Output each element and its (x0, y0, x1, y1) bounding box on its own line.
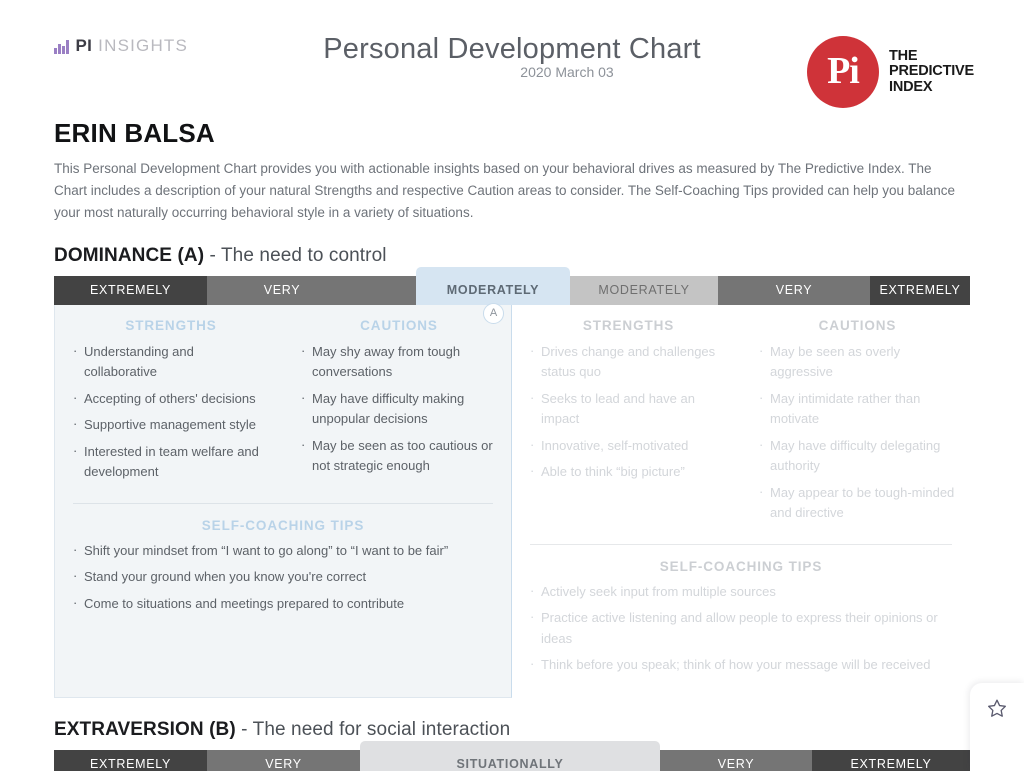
column-title-cautions: CAUTIONS (301, 318, 497, 333)
scale-marker-a: A (483, 303, 504, 324)
scale-segment-very-left[interactable]: VERY (207, 750, 360, 771)
list-item: Innovative, self-motivated (530, 436, 727, 457)
column-cautions-left: CAUTIONS May shy away from tough convers… (283, 318, 511, 489)
list-strengths-left: Understanding and collaborative Acceptin… (73, 342, 269, 483)
panel-right-columns: STRENGTHS Drives change and challenges s… (512, 318, 970, 530)
panel-right-dominance: STRENGTHS Drives change and challenges s… (512, 305, 970, 698)
list-item: Seeks to lead and have an impact (530, 389, 727, 430)
list-item: Come to situations and meetings prepared… (73, 594, 493, 615)
pi-logo-line2: PREDICTIVE (889, 64, 974, 80)
tips-title: SELF-COACHING TIPS (73, 518, 493, 533)
pi-logo-line3: INDEX (889, 80, 974, 96)
list-item: Actively seek input from multiple source… (530, 582, 952, 603)
section-factor-label: DOMINANCE (A) (54, 245, 204, 266)
list-cautions-left: May shy away from tough conversations Ma… (301, 342, 497, 477)
list-item: May be seen as overly aggressive (759, 342, 956, 383)
section-description-label: - The need for social interaction (241, 719, 510, 740)
scale-segment-extremely-left[interactable]: EXTREMELY (54, 750, 207, 771)
divider (530, 544, 952, 545)
scale-segment-situationally-active[interactable]: SITUATIONALLY (360, 750, 660, 771)
pi-logo-wordmark: THE PREDICTIVE INDEX (889, 49, 974, 96)
list-strengths-right: Drives change and challenges status quo … (530, 342, 727, 483)
column-strengths-left: STRENGTHS Understanding and collaborativ… (55, 318, 283, 489)
section-extraversion: EXTRAVERSION (B) - The need for social i… (54, 719, 970, 771)
scale-segment-extremely-right[interactable]: EXTREMELY (870, 276, 970, 305)
tips-title: SELF-COACHING TIPS (530, 559, 952, 574)
scale-segment-moderately-right[interactable]: MODERATELY (570, 276, 718, 305)
panel-left-dominance: STRENGTHS Understanding and collaborativ… (54, 305, 512, 698)
intro-block: ERIN BALSA This Personal Development Cha… (54, 118, 970, 224)
section-dominance: DOMINANCE (A) - The need to control EXTR… (54, 245, 970, 698)
scale-segment-spacer-left[interactable] (357, 276, 416, 305)
tips-left-dominance: SELF-COACHING TIPS Shift your mindset fr… (55, 503, 511, 615)
list-tips-left: Shift your mindset from “I want to go al… (73, 541, 493, 615)
list-item: Supportive management style (73, 415, 269, 436)
list-item: Able to think “big picture” (530, 462, 727, 483)
scale-dominance: EXTREMELY VERY MODERATELY MODERATELY VER… (54, 276, 970, 305)
scale-segment-moderately-left-active[interactable]: MODERATELY (416, 276, 570, 305)
list-item: May appear to be tough-minded and direct… (759, 483, 956, 524)
list-item: May shy away from tough conversations (301, 342, 497, 383)
section-description-label: - The need to control (210, 245, 387, 266)
favorite-button[interactable] (970, 683, 1024, 771)
scale-segment-extremely-right[interactable]: EXTREMELY (812, 750, 970, 771)
document-page: PI INSIGHTS Personal Development Chart 2… (0, 0, 1024, 771)
tips-right-dominance: SELF-COACHING TIPS Actively seek input f… (512, 544, 970, 676)
section-heading-dominance: DOMINANCE (A) - The need to control (54, 245, 970, 267)
list-cautions-right: May be seen as overly aggressive May int… (759, 342, 956, 524)
divider (73, 503, 493, 504)
scale-segment-very-left[interactable]: VERY (207, 276, 357, 305)
pi-glyph: Pi (807, 49, 879, 93)
pi-circle-mark: Pi (807, 36, 879, 108)
section-factor-label: EXTRAVERSION (B) (54, 719, 236, 740)
scale-extraversion: EXTREMELY VERY SITUATIONALLY VERY EXTREM… (54, 750, 970, 771)
column-title-cautions: CAUTIONS (759, 318, 956, 333)
column-title-strengths: STRENGTHS (73, 318, 269, 333)
list-tips-right: Actively seek input from multiple source… (530, 582, 952, 676)
list-item: May have difficulty making unpopular dec… (301, 389, 497, 430)
list-item: Accepting of others' decisions (73, 389, 269, 410)
list-item: Drives change and challenges status quo (530, 342, 727, 383)
list-item: Practice active listening and allow peop… (530, 608, 952, 649)
column-strengths-right: STRENGTHS Drives change and challenges s… (512, 318, 741, 530)
list-item: Interested in team welfare and developme… (73, 442, 269, 483)
column-title-strengths: STRENGTHS (530, 318, 727, 333)
page-header: PI INSIGHTS Personal Development Chart 2… (0, 0, 1024, 118)
scale-segment-very-right[interactable]: VERY (660, 750, 812, 771)
scale-segment-extremely-left[interactable]: EXTREMELY (54, 276, 207, 305)
list-item: Stand your ground when you know you're c… (73, 567, 493, 588)
scale-track: EXTREMELY VERY SITUATIONALLY VERY EXTREM… (54, 750, 970, 771)
list-item: Think before you speak; think of how you… (530, 655, 952, 676)
list-item: May intimidate rather than motivate (759, 389, 956, 430)
person-name: ERIN BALSA (54, 118, 970, 149)
column-cautions-right: CAUTIONS May be seen as overly aggressiv… (741, 318, 970, 530)
predictive-index-logo: Pi THE PREDICTIVE INDEX (807, 36, 974, 108)
star-icon (987, 698, 1007, 718)
panels-dominance: STRENGTHS Understanding and collaborativ… (54, 305, 970, 698)
panel-left-columns: STRENGTHS Understanding and collaborativ… (55, 318, 511, 489)
pi-logo-line1: THE (889, 49, 974, 65)
list-item: May have difficulty delegating authority (759, 436, 956, 477)
scale-track: EXTREMELY VERY MODERATELY MODERATELY VER… (54, 276, 970, 305)
section-heading-extraversion: EXTRAVERSION (B) - The need for social i… (54, 719, 970, 741)
intro-paragraph: This Personal Development Chart provides… (54, 158, 964, 224)
list-item: Shift your mindset from “I want to go al… (73, 541, 493, 562)
list-item: Understanding and collaborative (73, 342, 269, 383)
scale-segment-very-right[interactable]: VERY (718, 276, 870, 305)
list-item: May be seen as too cautious or not strat… (301, 436, 497, 477)
